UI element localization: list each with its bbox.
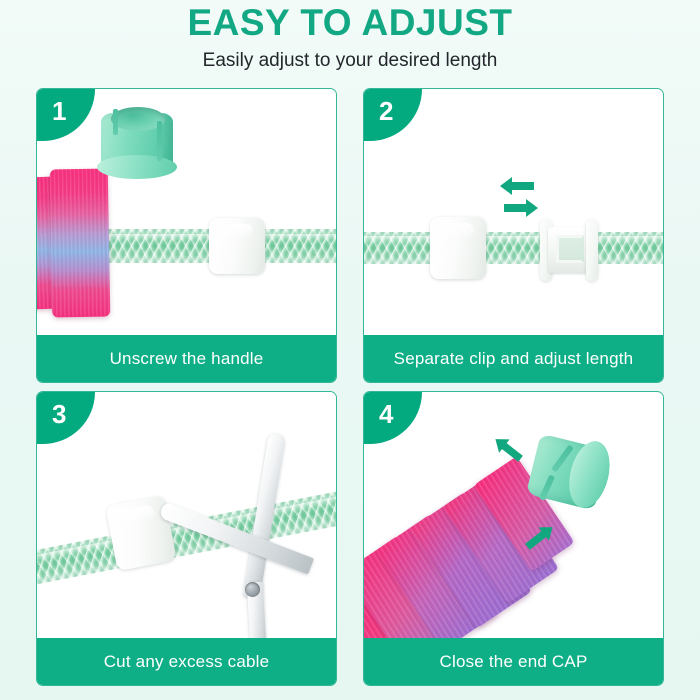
page-subtitle: Easily adjust to your desired length xyxy=(0,46,700,76)
end-cap-rim xyxy=(97,155,177,179)
steps-grid: 1 Unscrew the handle xyxy=(36,88,664,686)
step-caption-3: Cut any excess cable xyxy=(37,638,336,685)
end-cap-slot-right xyxy=(157,121,162,161)
step-caption-4: Close the end CAP xyxy=(364,638,663,685)
step-caption-1: Unscrew the handle xyxy=(37,335,336,382)
step-number-badge-2: 2 xyxy=(364,89,422,141)
flanged-clip-spiral-opening xyxy=(556,235,584,263)
step-3-illustration: 3 xyxy=(37,392,336,638)
step-number-badge-1: 1 xyxy=(37,89,95,141)
end-cap xyxy=(95,99,181,183)
white-clip xyxy=(430,217,486,279)
right-arrow-icon xyxy=(504,199,538,217)
step-panel-4: 4 xyxy=(363,391,664,686)
header: EASY TO ADJUST Easily adjust to your des… xyxy=(0,0,700,82)
step-panel-1: 1 Unscrew the handle xyxy=(36,88,337,383)
scissors-pivot-screw xyxy=(245,582,260,597)
scissors-icon xyxy=(187,432,336,638)
infographic-page: EASY TO ADJUST Easily adjust to your des… xyxy=(0,0,700,700)
end-cap-slot-left xyxy=(113,109,118,135)
braided-cable xyxy=(364,232,663,264)
foam-handle-front xyxy=(50,169,111,318)
step-number-badge-4: 4 xyxy=(364,392,422,444)
step-number-badge-3: 3 xyxy=(37,392,95,444)
page-title: EASY TO ADJUST xyxy=(0,2,700,44)
step-4-illustration: 4 xyxy=(364,392,663,638)
flanged-clip-right-flange xyxy=(586,219,598,281)
step-caption-2: Separate clip and adjust length xyxy=(364,335,663,382)
step-2-illustration: 2 xyxy=(364,89,663,335)
step-panel-3: 3 Cut any excess cable xyxy=(36,391,337,686)
down-left-arrow-icon xyxy=(490,432,526,466)
left-arrow-icon xyxy=(500,177,534,195)
step-panel-2: 2 xyxy=(363,88,664,383)
step-1-illustration: 1 xyxy=(37,89,336,335)
white-clip xyxy=(209,218,265,274)
scissors-blade-upper xyxy=(243,433,286,599)
